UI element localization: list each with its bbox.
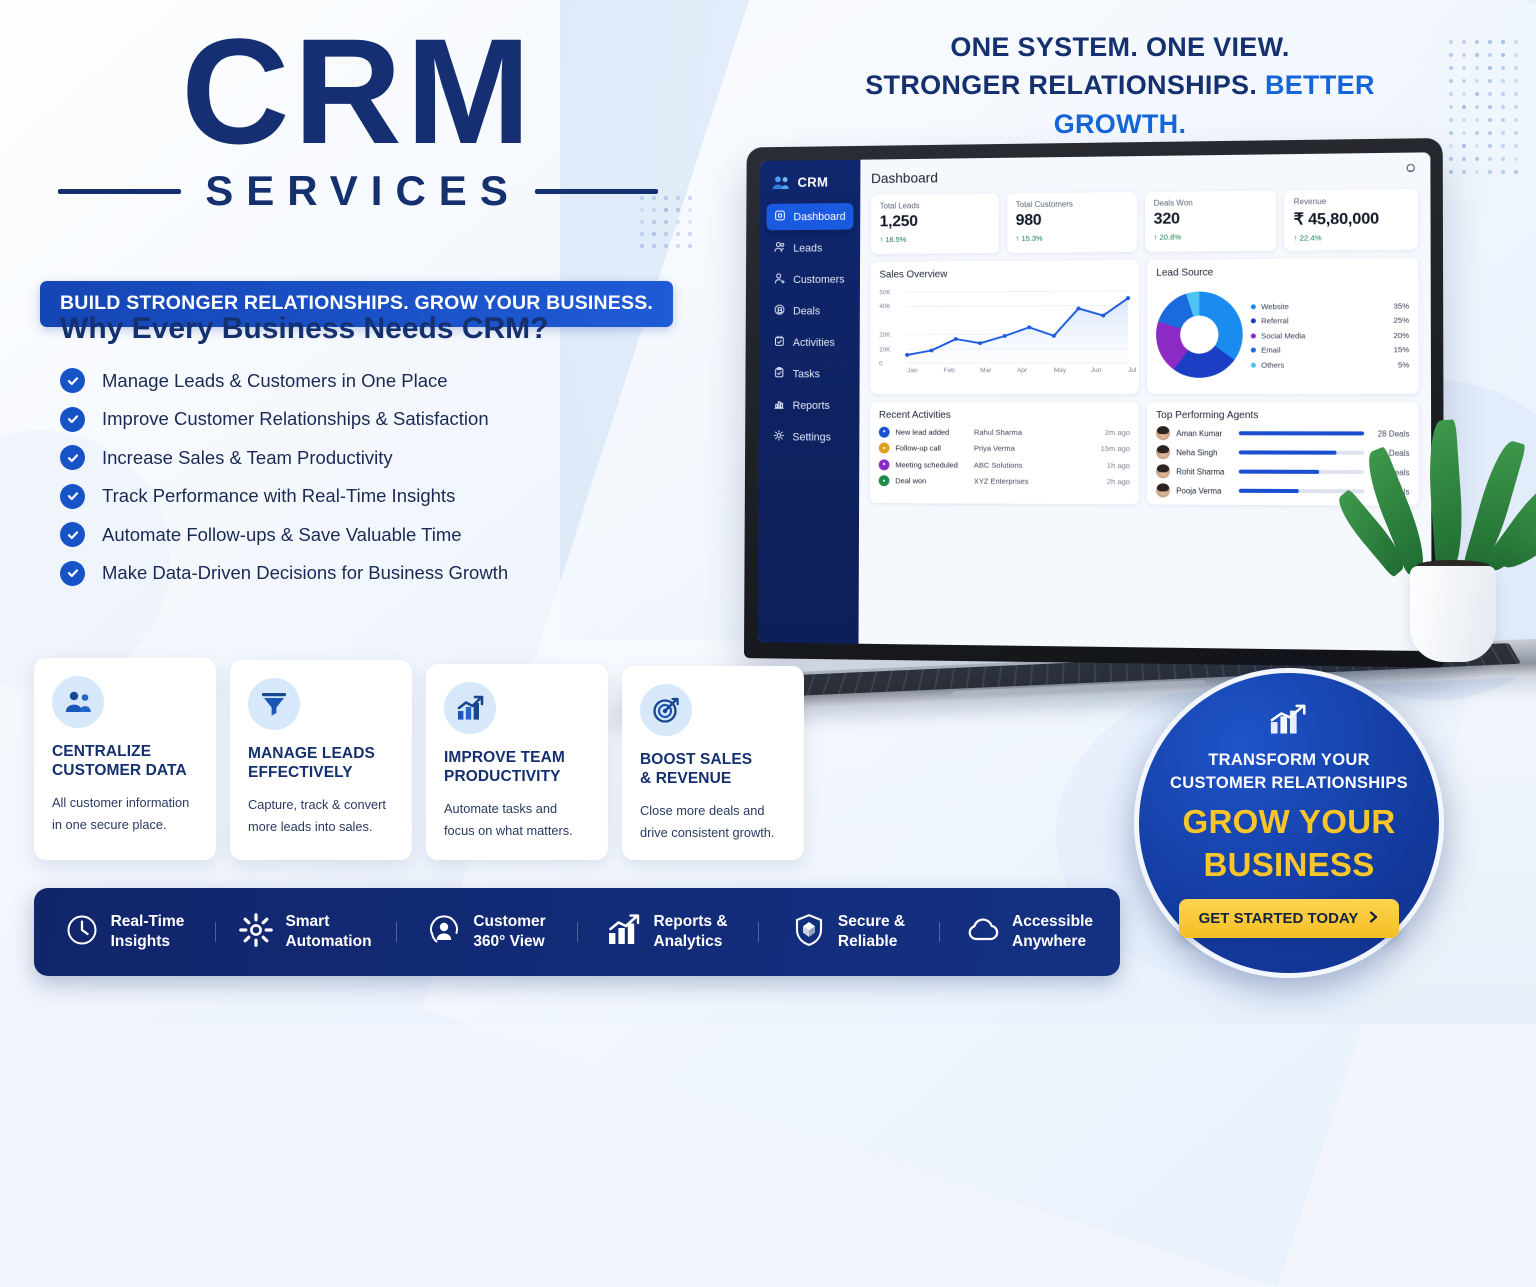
- dashboard-header: Dashboard: [871, 163, 1418, 187]
- why-heading: Why Every Business Needs CRM?: [60, 312, 620, 346]
- feature-strip: Real-TimeInsightsSmartAutomationCustomer…: [34, 888, 1120, 976]
- sidebar-item-label: Deals: [793, 305, 820, 317]
- strip-item[interactable]: Secure &Reliable: [758, 912, 939, 953]
- feature-card-desc-line2: drive consistent growth.: [640, 825, 774, 840]
- activity-badge-icon: ●: [879, 426, 890, 437]
- feature-cards: CENTRALIZECUSTOMER DATAAll customer info…: [34, 658, 804, 860]
- sidebar-item-label: Activities: [793, 336, 835, 348]
- kpi-card: Revenue₹ 45,80,000↑ 22.4%: [1284, 189, 1418, 251]
- kpi-cards: Total Leads1,250↑ 18.5%Total Customers98…: [871, 189, 1418, 254]
- recent-activities-card: Recent Activities ●New lead addedRahul S…: [870, 402, 1139, 504]
- cloud-icon: [966, 913, 1000, 952]
- feature-card-desc: All customer informationin one secure pl…: [52, 792, 198, 836]
- agent-row: Pooja Verma18 Deals: [1156, 483, 1409, 498]
- legend-swatch: [1251, 304, 1256, 309]
- strip-item-line2: Automation: [285, 933, 371, 950]
- chevron-right-icon: [1368, 910, 1379, 927]
- kpi-delta: ↑ 22.4%: [1294, 233, 1409, 243]
- laptop-lid: CRM DashboardLeadsCustomersDealsActiviti…: [744, 138, 1444, 668]
- potted-plant: [1384, 316, 1518, 662]
- lead-source-chart: Website35%Referral25%Social Media20%Emai…: [1156, 281, 1409, 387]
- feature-card: MANAGE LEADSEFFECTIVELYCapture, track & …: [230, 660, 412, 860]
- gear-icon: [773, 430, 785, 445]
- activity-subject: Rahul Sharma: [974, 427, 1099, 436]
- donut-chart: [1156, 291, 1243, 378]
- top-agents-title: Top Performing Agents: [1156, 410, 1409, 421]
- brand-title: CRM: [58, 18, 658, 165]
- clock-icon: [65, 913, 99, 952]
- x-axis-tick: Feb: [944, 367, 955, 374]
- why-list-item: Increase Sales & Team Productivity: [60, 445, 620, 470]
- strip-item[interactable]: SmartAutomation: [215, 912, 396, 953]
- why-list-item-label: Improve Customer Relationships & Satisfa…: [102, 408, 489, 430]
- legend-swatch: [1251, 362, 1256, 367]
- feature-card-desc-line1: Capture, track & convert: [248, 797, 386, 812]
- legend-swatch: [1251, 348, 1256, 353]
- strip-item[interactable]: Real-TimeInsights: [34, 912, 215, 953]
- cta-line4: BUSINESS: [1203, 847, 1374, 883]
- kpi-delta: ↑ 18.5%: [880, 234, 990, 244]
- agent-name: Pooja Verma: [1176, 486, 1233, 495]
- why-list-item-label: Automate Follow-ups & Save Valuable Time: [102, 524, 462, 546]
- lead-source-title: Lead Source: [1156, 266, 1409, 279]
- feature-card-desc: Capture, track & convertmore leads into …: [248, 794, 394, 838]
- check-icon: [60, 445, 85, 470]
- feature-card-desc-line1: All customer information: [52, 795, 189, 810]
- brand-subtitle: SERVICES: [195, 167, 521, 215]
- sidebar-item-leads[interactable]: Leads: [766, 234, 853, 261]
- feature-card-title-line2: EFFECTIVELY: [248, 764, 353, 781]
- y-axis-tick: 20K: [879, 332, 890, 339]
- cta-line1: TRANSFORM YOUR: [1208, 749, 1370, 772]
- legend-item: Website35%: [1251, 301, 1409, 311]
- y-axis-tick: 10K: [879, 346, 890, 353]
- kpi-delta: ↑ 20.8%: [1154, 232, 1268, 242]
- rule-right: [535, 189, 658, 194]
- strip-item-label: SmartAutomation: [285, 912, 371, 953]
- activity-badge-icon: ●: [879, 475, 890, 486]
- feature-card-desc: Close more deals anddrive consistent gro…: [640, 800, 786, 844]
- strip-item-line2: 360° View: [473, 933, 544, 950]
- feature-card-title-line1: MANAGE LEADS: [248, 745, 375, 762]
- feature-card-desc: Automate tasks andfocus on what matters.: [444, 798, 590, 842]
- activity-row: ●Meeting scheduledABC Solutions1h ago: [879, 459, 1130, 471]
- strip-item[interactable]: AccessibleAnywhere: [939, 912, 1120, 953]
- activity-subject: ABC Solutions: [974, 460, 1101, 469]
- x-axis-tick: Mar: [980, 367, 991, 374]
- strip-item-line2: Reliable: [838, 933, 897, 950]
- y-axis-tick: 40K: [879, 304, 890, 311]
- strip-item-label: AccessibleAnywhere: [1012, 912, 1093, 953]
- kpi-value: ₹ 45,80,000: [1294, 208, 1409, 229]
- agent-progress-bar: [1239, 450, 1364, 454]
- laptop-screen: CRM DashboardLeadsCustomersDealsActiviti…: [758, 152, 1432, 651]
- agent-progress-bar: [1239, 431, 1364, 435]
- recent-activities-list: ●New lead addedRahul Sharma2m ago●Follow…: [879, 426, 1130, 487]
- kpi-label: Deals Won: [1154, 198, 1268, 208]
- kpi-label: Revenue: [1294, 196, 1409, 206]
- gear-icon: [239, 913, 273, 952]
- kpi-value: 320: [1154, 210, 1268, 229]
- activity-badge-icon: ●: [879, 459, 890, 470]
- lead-source-card: Lead Source Website35%Referral25%Social …: [1147, 258, 1418, 394]
- funnel-icon: [248, 678, 300, 730]
- growth-chart-icon: [1268, 703, 1310, 737]
- strip-item-label: Secure &Reliable: [838, 912, 905, 953]
- kpi-card: Total Customers980↑ 15.3%: [1007, 192, 1137, 253]
- charts-row: Sales Overview 50K40K20K10K0 JanFebMarAp…: [870, 258, 1418, 394]
- legend-swatch: [1251, 333, 1256, 338]
- activity-subject: XYZ Enterprises: [974, 477, 1101, 487]
- customer-360-icon: [427, 913, 461, 952]
- kpi-value: 1,250: [880, 212, 990, 231]
- sales-overview-chart: 50K40K20K10K0 JanFebMarAprMayJunJul: [879, 283, 1130, 387]
- sidebar-brand: CRM: [760, 173, 861, 204]
- feature-card-desc-line2: in one secure place.: [52, 817, 167, 832]
- feature-card-title-line2: CUSTOMER DATA: [52, 762, 187, 779]
- kpi-card: Total Leads1,250↑ 18.5%: [871, 194, 999, 254]
- lists-row: Recent Activities ●New lead addedRahul S…: [870, 402, 1419, 506]
- sidebar-item-label: Leads: [793, 242, 822, 254]
- sidebar-item-label: Customers: [793, 273, 845, 285]
- feature-card-title: BOOST SALES& REVENUE: [640, 750, 786, 789]
- activity-subject: Priya Verma: [974, 444, 1095, 453]
- feature-card-desc-line1: Close more deals and: [640, 803, 764, 818]
- feature-card-title-line1: CENTRALIZE: [52, 743, 151, 760]
- strip-item-line1: Secure &: [838, 913, 905, 930]
- sidebar-item-settings[interactable]: Settings: [765, 424, 852, 451]
- headline-line1: ONE SYSTEM. ONE VIEW.: [800, 28, 1440, 66]
- cta-line2: CUSTOMER RELATIONSHIPS: [1170, 772, 1408, 795]
- x-axis-tick: Jul: [1128, 367, 1136, 374]
- legend-swatch: [1251, 318, 1256, 323]
- feature-card-title-line2: PRODUCTIVITY: [444, 768, 561, 785]
- feature-card: BOOST SALES& REVENUEClose more deals and…: [622, 666, 804, 860]
- activities-icon: [774, 335, 786, 350]
- avatar: [1156, 445, 1170, 459]
- check-icon: [60, 522, 85, 547]
- agent-row: Aman Kumar28 Deals: [1156, 426, 1409, 441]
- why-list-item-label: Make Data-Driven Decisions for Business …: [102, 562, 508, 584]
- legend-label: Website: [1261, 301, 1388, 311]
- why-list-item-label: Track Performance with Real-Time Insight…: [102, 485, 455, 507]
- bar-chart-icon: [607, 913, 641, 952]
- dashboard-main: Dashboard Total Leads1,250↑ 18.5%Total C…: [859, 152, 1432, 651]
- activity-time: 2m ago: [1105, 428, 1130, 437]
- check-icon: [60, 484, 85, 509]
- cta-line3: GROW YOUR: [1183, 804, 1396, 840]
- strip-item-label: Real-TimeInsights: [111, 912, 185, 953]
- avatar: [1156, 483, 1170, 497]
- brand-logo: CRM SERVICES: [58, 18, 658, 215]
- target-icon: [640, 684, 692, 736]
- why-section: Why Every Business Needs CRM? Manage Lea…: [60, 312, 620, 599]
- sidebar-item-deals[interactable]: Deals: [766, 297, 853, 324]
- activity-time: 2h ago: [1107, 477, 1130, 486]
- x-axis-tick: Jun: [1091, 367, 1102, 374]
- why-list-item-label: Manage Leads & Customers in One Place: [102, 370, 448, 392]
- sidebar-item-activities[interactable]: Activities: [766, 329, 853, 356]
- strip-item-line1: Real-Time: [111, 913, 185, 930]
- check-icon: [60, 407, 85, 432]
- agent-name: Neha Singh: [1176, 448, 1233, 457]
- strip-item-line2: Insights: [111, 933, 170, 950]
- activity-row: ●Follow-up callPriya Verma15m ago: [879, 443, 1130, 455]
- why-list-item-label: Increase Sales & Team Productivity: [102, 447, 393, 469]
- sidebar-item-label: Dashboard: [793, 210, 845, 222]
- strip-item[interactable]: Customer360° View: [396, 912, 577, 953]
- kpi-delta: ↑ 15.3%: [1016, 233, 1128, 243]
- agent-name: Rohit Sharma: [1176, 467, 1233, 476]
- kpi-label: Total Customers: [1016, 199, 1128, 209]
- rule-left: [58, 189, 181, 194]
- sidebar: CRM DashboardLeadsCustomersDealsActiviti…: [758, 160, 861, 644]
- laptop-mockup: CRM DashboardLeadsCustomersDealsActiviti…: [718, 142, 1458, 682]
- strip-item-line2: Anywhere: [1012, 933, 1086, 950]
- strip-item[interactable]: Reports &Analytics: [577, 912, 758, 953]
- feature-card-title-line2: & REVENUE: [640, 770, 731, 787]
- strip-item-line2: Analytics: [653, 933, 722, 950]
- check-icon: [60, 368, 85, 393]
- feature-card-title: CENTRALIZECUSTOMER DATA: [52, 742, 198, 781]
- why-list-item: Track Performance with Real-Time Insight…: [60, 484, 620, 509]
- sales-overview-card: Sales Overview 50K40K20K10K0 JanFebMarAp…: [870, 260, 1139, 394]
- activity-type: Meeting scheduled: [895, 460, 968, 469]
- activity-type: New lead added: [895, 427, 968, 436]
- activity-type: Follow-up call: [895, 444, 968, 453]
- search-icon[interactable]: [1405, 163, 1418, 181]
- people-icon: [52, 676, 104, 728]
- activity-row: ●Deal wonXYZ Enterprises2h ago: [879, 475, 1130, 487]
- why-list: Manage Leads & Customers in One PlaceImp…: [60, 368, 620, 586]
- sidebar-item-label: Settings: [792, 431, 831, 443]
- agent-name: Aman Kumar: [1176, 429, 1233, 438]
- activity-badge-icon: ●: [879, 443, 890, 454]
- dot-pattern-icon: [1449, 40, 1518, 174]
- strip-item-line1: Accessible: [1012, 913, 1093, 930]
- legend-label: Others: [1261, 360, 1393, 369]
- brand-subtitle-row: SERVICES: [58, 167, 658, 215]
- kpi-label: Total Leads: [880, 201, 990, 211]
- feature-card: CENTRALIZECUSTOMER DATAAll customer info…: [34, 658, 216, 860]
- feature-card-title-line1: IMPROVE TEAM: [444, 749, 565, 766]
- reports-icon: [773, 398, 785, 413]
- feature-card-desc-line2: more leads into sales.: [248, 819, 372, 834]
- sidebar-item-reports[interactable]: Reports: [765, 392, 852, 419]
- growth-chart-icon: [444, 682, 496, 734]
- strip-item-label: Reports &Analytics: [653, 912, 727, 953]
- agent-progress-bar: [1239, 470, 1364, 475]
- leads-icon: [774, 241, 786, 256]
- kpi-card: Deals Won320↑ 20.8%: [1145, 190, 1277, 251]
- feature-card-desc-line1: Automate tasks and: [444, 801, 557, 816]
- feature-card: IMPROVE TEAMPRODUCTIVITYAutomate tasks a…: [426, 664, 608, 860]
- dashboard-icon: [774, 210, 786, 225]
- why-list-item: Automate Follow-ups & Save Valuable Time: [60, 522, 620, 547]
- customer-icon: [774, 272, 786, 287]
- sidebar-item-dashboard[interactable]: Dashboard: [766, 203, 853, 230]
- deals-icon: [774, 304, 786, 319]
- legend-label: Social Media: [1261, 330, 1388, 340]
- people-icon: [771, 174, 790, 190]
- sidebar-item-customers[interactable]: Customers: [766, 266, 853, 293]
- page-title: Dashboard: [871, 170, 938, 187]
- activity-time: 15m ago: [1101, 444, 1131, 453]
- avatar: [1156, 426, 1170, 440]
- strip-item-line1: Smart: [285, 913, 329, 930]
- check-icon: [60, 561, 85, 586]
- avatar: [1156, 464, 1170, 478]
- activity-type: Deal won: [895, 476, 968, 485]
- feature-card-title-line1: BOOST SALES: [640, 751, 752, 768]
- strip-item-label: Customer360° View: [473, 912, 545, 953]
- activity-row: ●New lead addedRahul Sharma2m ago: [879, 426, 1130, 437]
- plant-pot: [1410, 566, 1496, 662]
- headline-line2: STRONGER RELATIONSHIPS. BETTER GROWTH.: [800, 66, 1440, 143]
- legend-label: Email: [1261, 345, 1388, 354]
- sidebar-item-label: Tasks: [793, 368, 820, 380]
- headline-line2-plain: STRONGER RELATIONSHIPS.: [865, 70, 1265, 100]
- why-list-item: Manage Leads & Customers in One Place: [60, 368, 620, 393]
- feature-card-desc-line2: focus on what matters.: [444, 823, 573, 838]
- get-started-label: GET STARTED TODAY: [1199, 910, 1359, 927]
- legend-value: 35%: [1393, 301, 1409, 310]
- feature-card-title: MANAGE LEADSEFFECTIVELY: [248, 744, 394, 783]
- why-list-item: Make Data-Driven Decisions for Business …: [60, 561, 620, 586]
- y-axis-tick: 0: [879, 360, 882, 367]
- kpi-value: 980: [1016, 211, 1128, 230]
- strip-item-line1: Reports &: [653, 913, 727, 930]
- sidebar-brand-label: CRM: [797, 174, 828, 189]
- y-axis-tick: 50K: [879, 289, 890, 296]
- x-axis-tick: Jan: [907, 367, 917, 374]
- legend-label: Referral: [1261, 316, 1388, 326]
- x-axis-tick: Apr: [1017, 367, 1027, 374]
- why-list-item: Improve Customer Relationships & Satisfa…: [60, 407, 620, 432]
- sidebar-item-label: Reports: [793, 400, 830, 412]
- strip-item-line1: Customer: [473, 913, 545, 930]
- cta-badge[interactable]: TRANSFORM YOUR CUSTOMER RELATIONSHIPS GR…: [1134, 668, 1444, 978]
- activity-time: 1h ago: [1107, 461, 1130, 470]
- sidebar-item-tasks[interactable]: Tasks: [766, 361, 853, 388]
- sidebar-nav: DashboardLeadsCustomersDealsActivitiesTa…: [759, 203, 861, 451]
- recent-activities-title: Recent Activities: [879, 410, 1130, 421]
- sales-overview-title: Sales Overview: [879, 268, 1130, 281]
- get-started-button[interactable]: GET STARTED TODAY: [1179, 899, 1400, 938]
- feature-card-title: IMPROVE TEAMPRODUCTIVITY: [444, 748, 590, 787]
- shield-icon: [792, 913, 826, 952]
- tasks-icon: [773, 367, 785, 382]
- x-axis-tick: May: [1054, 367, 1066, 374]
